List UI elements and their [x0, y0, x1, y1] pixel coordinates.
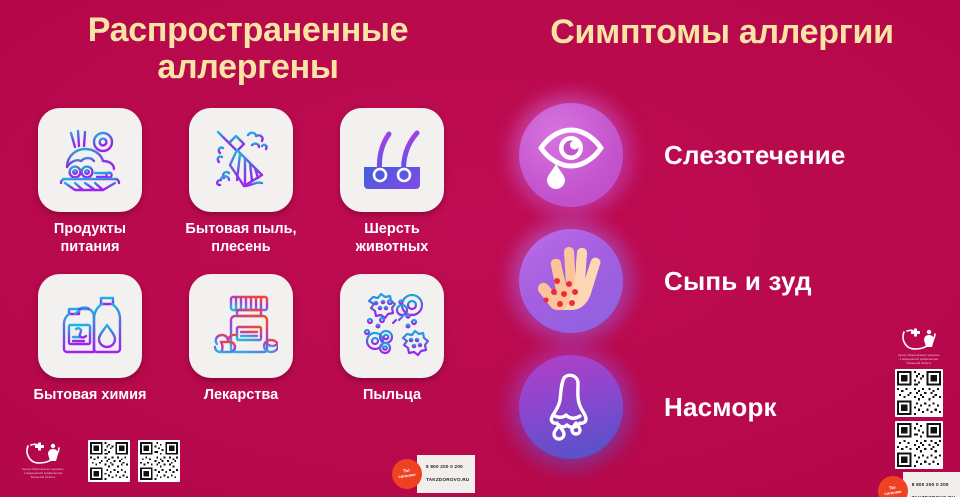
allergen-tile-pollen — [340, 274, 444, 378]
allergen-item-chemicals[interactable]: Бытовая химия — [20, 274, 160, 405]
allergen-label-animal-hair: Шерсть животных — [356, 221, 429, 256]
allergen-label-dust: Бытовая пыль, плесень — [185, 221, 296, 256]
allergen-item-animal-hair[interactable]: Шерсть животных — [322, 108, 462, 256]
symptom-label-rash: Сыпь и зуд — [664, 266, 812, 297]
allergen-label-pollen: Пыльца — [363, 387, 421, 405]
health-center-logo-icon — [899, 328, 939, 352]
symptom-bubble-wrap-watery-eyes — [496, 103, 646, 207]
symptom-item-runny-nose[interactable]: Насморк — [496, 344, 948, 470]
rash-hand-icon — [530, 240, 612, 322]
qr-code-primary[interactable] — [895, 369, 943, 417]
hotline-phone: 8 800 200 0 200 — [426, 464, 470, 470]
runny-nose-icon — [533, 369, 609, 445]
takzdorovo-logo-icon: ТЫ сильнее — [878, 476, 908, 497]
hotline-badge-left[interactable]: ТЫ сильнее 8 800 200 0 200 TAKZDOROVO.RU — [392, 455, 475, 493]
hair-follicle-icon — [355, 123, 429, 197]
footer-left: Центр общественного здоровья и медицинск… — [6, 440, 180, 482]
right-panel-title: Симптомы аллергии — [492, 14, 952, 51]
symptoms-list: Слезотечение — [496, 92, 948, 472]
health-center-logo-icon — [23, 442, 63, 466]
symptom-bubble-wrap-runny-nose — [496, 355, 646, 459]
allergen-label-chemicals: Бытовая химия — [34, 387, 147, 405]
qr-code-secondary[interactable] — [138, 440, 180, 482]
org-logo: Центр общественного здоровья и медицинск… — [6, 442, 80, 479]
qr-code-icon — [140, 442, 178, 480]
qr-code-icon — [90, 442, 128, 480]
org-logo: Центр общественного здоровья и медицинск… — [882, 328, 956, 365]
allergen-item-food[interactable]: Продукты питания — [20, 108, 160, 256]
hotline-badge-right[interactable]: ТЫ сильнее 8 800 200 0 200 TAKZDOROVO.RU — [878, 472, 960, 497]
allergen-label-medicines: Лекарства — [204, 387, 278, 405]
footer-right: Центр общественного здоровья и медицинск… — [882, 328, 956, 497]
symptom-bubble-runny-nose — [519, 355, 623, 459]
allergen-tile-dust — [189, 108, 293, 212]
hotline-info-bar: 8 800 200 0 200 TAKZDOROVO.RU — [903, 472, 960, 497]
pollen-particles-icon — [355, 289, 429, 363]
symptom-item-rash[interactable]: Сыпь и зуд — [496, 218, 948, 344]
symptom-bubble-rash — [519, 229, 623, 333]
allergen-tile-food — [38, 108, 142, 212]
allergen-tile-animal-hair — [340, 108, 444, 212]
hotline-phone: 8 800 200 0 200 — [912, 482, 956, 488]
hotline-info-bar: 8 800 200 0 200 TAKZDOROVO.RU — [417, 455, 475, 493]
symptom-item-watery-eyes[interactable]: Слезотечение — [496, 92, 948, 218]
hotline-mark-text: ТЫ сильнее — [398, 468, 417, 480]
qr-code-icon — [897, 423, 941, 467]
allergy-infographic-poster: Распространенные аллергены Симптомы алле… — [0, 0, 960, 497]
allergen-tile-medicines — [189, 274, 293, 378]
symptom-label-runny-nose: Насморк — [664, 392, 777, 423]
allergens-grid: Продукты питания — [14, 108, 476, 438]
symptom-bubble-wrap-rash — [496, 229, 646, 333]
hotline-site: TAKZDOROVO.RU — [426, 477, 470, 483]
hotline-mark-text: ТЫ сильнее — [883, 485, 902, 497]
qr-code-secondary[interactable] — [895, 421, 943, 469]
allergen-item-pollen[interactable]: Пыльца — [322, 274, 462, 405]
org-logo-caption: Центр общественного здоровья и медицинск… — [898, 354, 939, 365]
org-logo-caption: Центр общественного здоровья и медицинск… — [22, 468, 63, 479]
takzdorovo-logo-icon: ТЫ сильнее — [392, 459, 422, 489]
allergens-row-1: Продукты питания — [20, 108, 462, 256]
left-panel-title: Распространенные аллергены — [18, 12, 478, 85]
crying-eye-icon — [532, 116, 610, 194]
medicine-bottle-icon — [204, 289, 278, 363]
allergens-row-2: Бытовая химия — [20, 274, 462, 405]
chemical-bottles-icon — [53, 289, 127, 363]
broom-dust-icon — [204, 123, 278, 197]
allergen-item-dust[interactable]: Бытовая пыль, плесень — [171, 108, 311, 256]
qr-code-icon — [897, 371, 941, 415]
food-plate-icon — [53, 123, 127, 197]
qr-code-primary[interactable] — [88, 440, 130, 482]
allergen-label-food: Продукты питания — [54, 221, 126, 256]
symptom-label-watery-eyes: Слезотечение — [664, 140, 846, 171]
symptom-bubble-watery-eyes — [519, 103, 623, 207]
allergen-item-medicines[interactable]: Лекарства — [171, 274, 311, 405]
allergen-tile-chemicals — [38, 274, 142, 378]
